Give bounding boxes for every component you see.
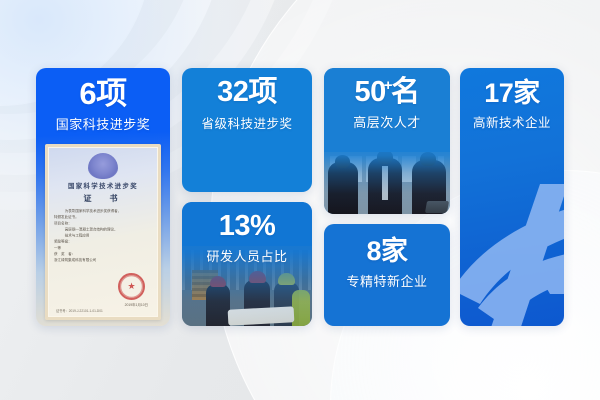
stat-card-high-tech-enterprise[interactable]: 17家 高新技术企业 [460, 68, 564, 326]
certificate-serial: 证书号：2019-J-22101-1-01-D01 [56, 308, 103, 313]
national-emblem-icon [88, 153, 118, 179]
certificate-subheading: 证 书 [54, 193, 152, 204]
stat-number: 8家 [324, 238, 450, 266]
stat-number-unit: 名 [391, 76, 420, 108]
stat-card-text-block: 32项 省级科技进步奖 [182, 68, 312, 132]
stat-number: 50+名 [324, 78, 450, 108]
stat-number: 13% [182, 212, 312, 242]
certificate-body: 为表彰国家科学技术进步奖获得者， 特颁发此证书。 项目名称： 高层钢—混凝土混合… [54, 208, 150, 263]
stat-card-provincial-sci-tech-award[interactable]: 32项 省级科技进步奖 [182, 68, 312, 192]
stat-card-rnd-staff-ratio[interactable]: 13% 研发人员占比 [182, 202, 312, 326]
stat-number: 17家 [460, 80, 564, 108]
stat-card-text-block: 17家 高新技术企业 [460, 68, 564, 131]
stat-number: 32项 [182, 78, 312, 108]
stat-card-text-block: 50+名 高层次人才 [324, 68, 450, 131]
stat-label: 高新技术企业 [460, 112, 564, 131]
certificate-image: 国家科学技术进步奖 证 书 为表彰国家科学技术进步奖获得者， 特颁发此证书。 项… [45, 144, 161, 320]
stat-label: 高层次人才 [324, 112, 450, 131]
stat-card-text-block: 13% 研发人员占比 [182, 202, 312, 265]
stat-card-specialized-new-enterprise[interactable]: 8家 专精特新企业 [324, 224, 450, 326]
certificate-heading: 国家科学技术进步奖 [54, 181, 152, 190]
stat-label: 专精特新企业 [324, 271, 450, 290]
stat-card-text-block: 8家 专精特新企业 [324, 224, 450, 290]
stats-card-board: 6项 国家科技进步奖 国家科学技术进步奖 证 书 为表彰国家科学技术进步奖获得者… [0, 0, 600, 400]
stat-card-national-sci-tech-award[interactable]: 6项 国家科技进步奖 国家科学技术进步奖 证 书 为表彰国家科学技术进步奖获得者… [36, 68, 170, 326]
stat-number: 6项 [36, 78, 170, 110]
official-seal-icon [118, 273, 145, 300]
certificate-winner-value: 浙江绿筑集成科技有限公司 [54, 257, 150, 263]
stat-label: 研发人员占比 [182, 246, 312, 265]
stat-card-high-level-talent[interactable]: 50+名 高层次人才 [324, 68, 450, 214]
stat-label: 国家科技进步奖 [36, 114, 170, 133]
stat-label: 省级科技进步奖 [182, 113, 312, 132]
certificate-date: 2019年1月10日 [125, 302, 148, 307]
stat-number-value: 50 [354, 76, 385, 108]
stat-card-text-block: 6项 国家科技进步奖 [36, 68, 170, 133]
company-logo-watermark-icon [460, 158, 564, 326]
